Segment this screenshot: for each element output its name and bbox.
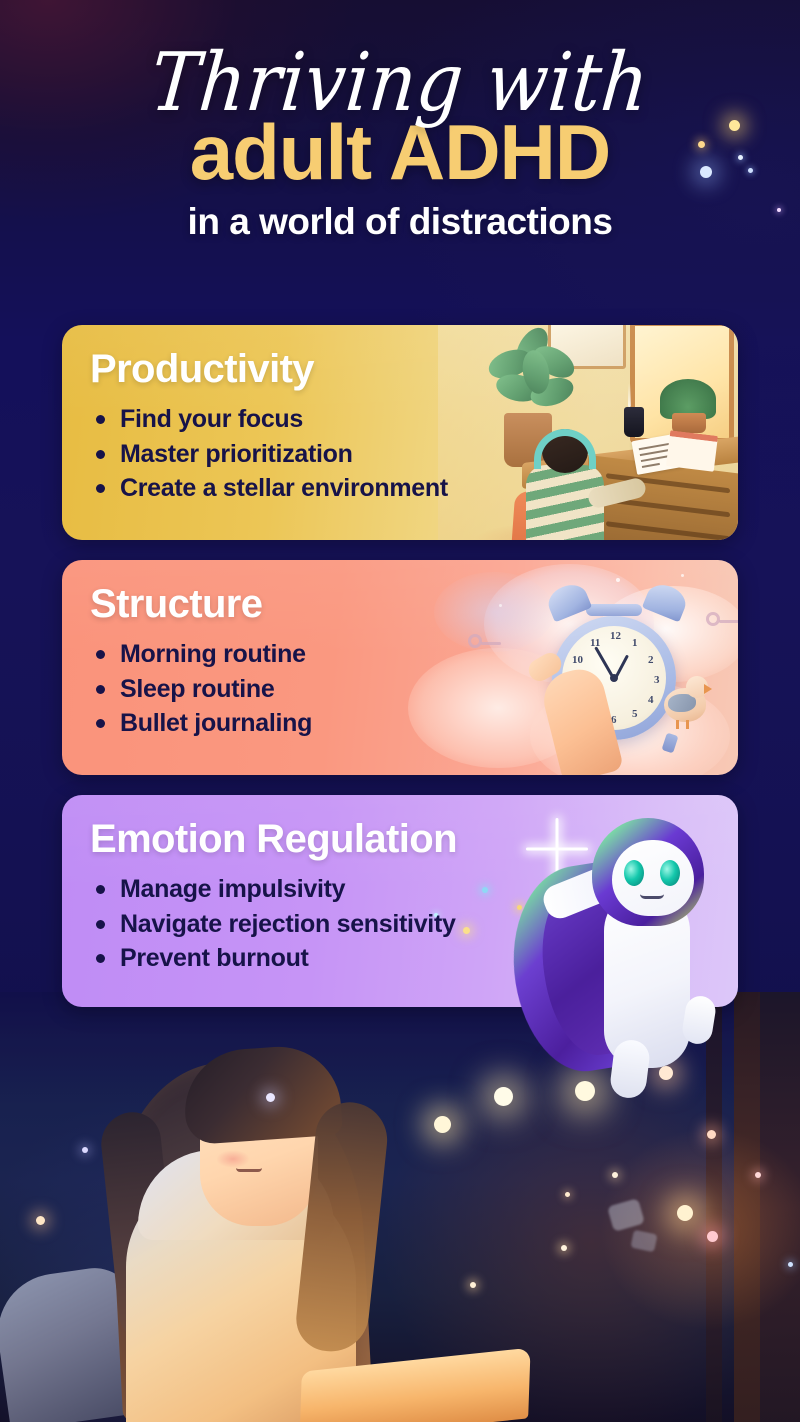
girl-mouth (236, 1168, 262, 1172)
card-productivity-body: Productivity Find your focus Master prio… (90, 347, 712, 506)
girl-cheek-blush (216, 1150, 250, 1168)
light-dot (707, 1231, 718, 1242)
list-item: Create a stellar environment (90, 471, 712, 506)
light-dot (755, 1172, 761, 1178)
light-dot (266, 1093, 275, 1102)
light-dot (565, 1192, 570, 1197)
light-dot (788, 1262, 793, 1267)
light-dot (470, 1282, 476, 1288)
light-dot (707, 1130, 716, 1139)
list-item: Morning routine (90, 637, 712, 672)
light-dot (677, 1205, 693, 1221)
script-title: Thriving with (0, 42, 800, 123)
page-subtitle: in a world of distractions (0, 202, 800, 243)
card-structure-bullets: Morning routine Sleep routine Bullet jou… (90, 637, 712, 741)
mascot-character-illustration (508, 812, 748, 1097)
light-dot (82, 1147, 88, 1153)
list-item: Bullet journaling (90, 706, 712, 741)
infographic-poster: Thriving with adult ADHD in a world of d… (0, 0, 800, 1422)
card-structure-body: Structure Morning routine Sleep routine … (90, 582, 712, 741)
light-dot (434, 1116, 451, 1133)
list-item: Find your focus (90, 402, 712, 437)
mascot-smile (640, 894, 664, 899)
girl-character (92, 1022, 422, 1422)
card-productivity-title: Productivity (90, 347, 712, 392)
card-productivity[interactable]: Productivity Find your focus Master prio… (62, 325, 738, 540)
light-dot (561, 1245, 567, 1251)
mascot-eye (624, 860, 644, 886)
card-structure-title: Structure (90, 582, 712, 627)
mascot-eye (660, 860, 680, 886)
light-dot (36, 1216, 45, 1225)
list-item: Master prioritization (90, 437, 712, 472)
light-dot (612, 1172, 618, 1178)
warm-light-wash (570, 1112, 800, 1372)
list-item: Sleep routine (90, 672, 712, 707)
card-productivity-bullets: Find your focus Master prioritization Cr… (90, 402, 712, 506)
card-structure[interactable]: 12 1 2 3 4 5 6 7 8 9 10 11 (62, 560, 738, 775)
poster-header: Thriving with adult ADHD in a world of d… (0, 0, 800, 243)
sparkle-dot (681, 574, 684, 577)
